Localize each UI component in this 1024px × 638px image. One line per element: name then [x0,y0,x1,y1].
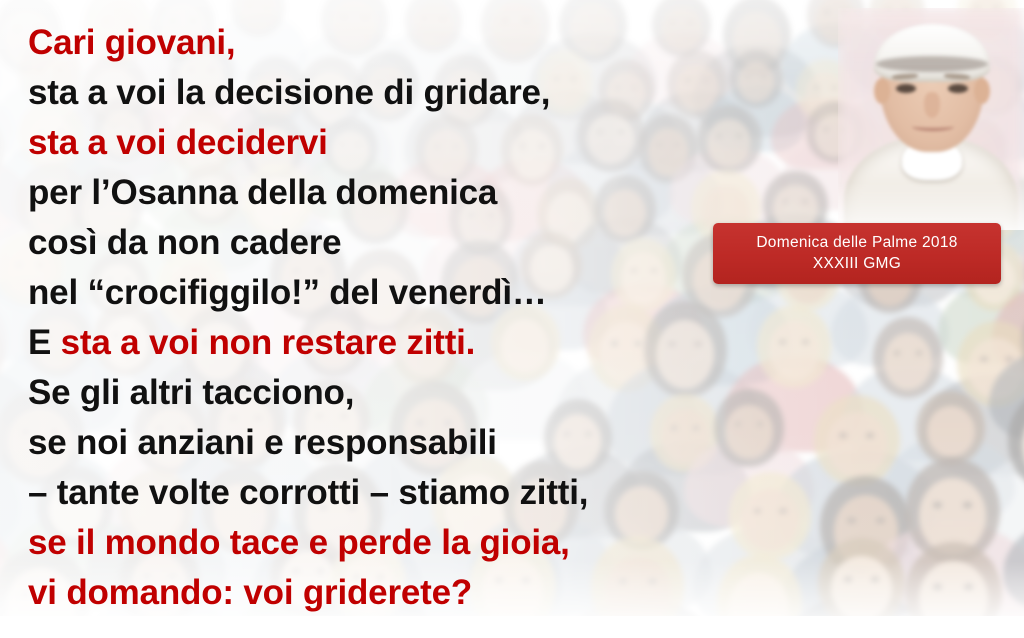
slide-canvas: Domenica delle Palme 2018 XXXIII GMG Car… [0,0,1024,638]
quote-line: – tante volte corrotti – stiamo zitti, [28,468,718,518]
quote-segment: vi domando: voi griderete? [28,573,472,612]
quote-line: Se gli altri tacciono, [28,368,718,418]
quote-line: sta a voi la decisione di gridare, [28,68,718,118]
quote-segment: sta a voi la decisione di gridare, [28,73,550,112]
caption-line-1: Domenica delle Palme 2018 [756,232,957,253]
quote-line: Cari giovani, [28,18,718,68]
quote-segment: sta a voi decidervi [28,123,328,162]
quote-segment: così da non cadere [28,223,341,262]
quote-segment: nel “crocifiggilo!” del venerdì… [28,273,547,312]
bottom-white-band [0,616,1024,638]
quote-segment: se noi anziani e responsabili [28,423,497,462]
quote-segment: Cari giovani, [28,23,235,62]
quote-line: per l’Osanna della domenica [28,168,718,218]
quote-line: se il mondo tace e perde la gioia, [28,518,718,568]
caption-line-2: XXXIII GMG [813,253,901,274]
quote-line: sta a voi decidervi [28,118,718,168]
quote-segment: se il mondo tace e perde la gioia, [28,523,570,562]
quote-line: se noi anziani e responsabili [28,418,718,468]
pope-francis-portrait [838,8,1024,230]
quote-segment: sta a voi non restare zitti. [61,323,476,362]
quote-text-block: Cari giovani,sta a voi la decisione di g… [28,18,718,618]
quote-line: nel “crocifiggilo!” del venerdì… [28,268,718,318]
portrait-fade-overlay [838,8,1024,230]
quote-line: così da non cadere [28,218,718,268]
quote-segment: – tante volte corrotti – stiamo zitti, [28,473,588,512]
event-caption-banner: Domenica delle Palme 2018 XXXIII GMG [713,223,1001,284]
quote-segment: per l’Osanna della domenica [28,173,497,212]
quote-line: vi domando: voi griderete? [28,568,718,618]
quote-segment: Se gli altri tacciono, [28,373,354,412]
quote-segment: E [28,323,61,362]
quote-line: E sta a voi non restare zitti. [28,318,718,368]
